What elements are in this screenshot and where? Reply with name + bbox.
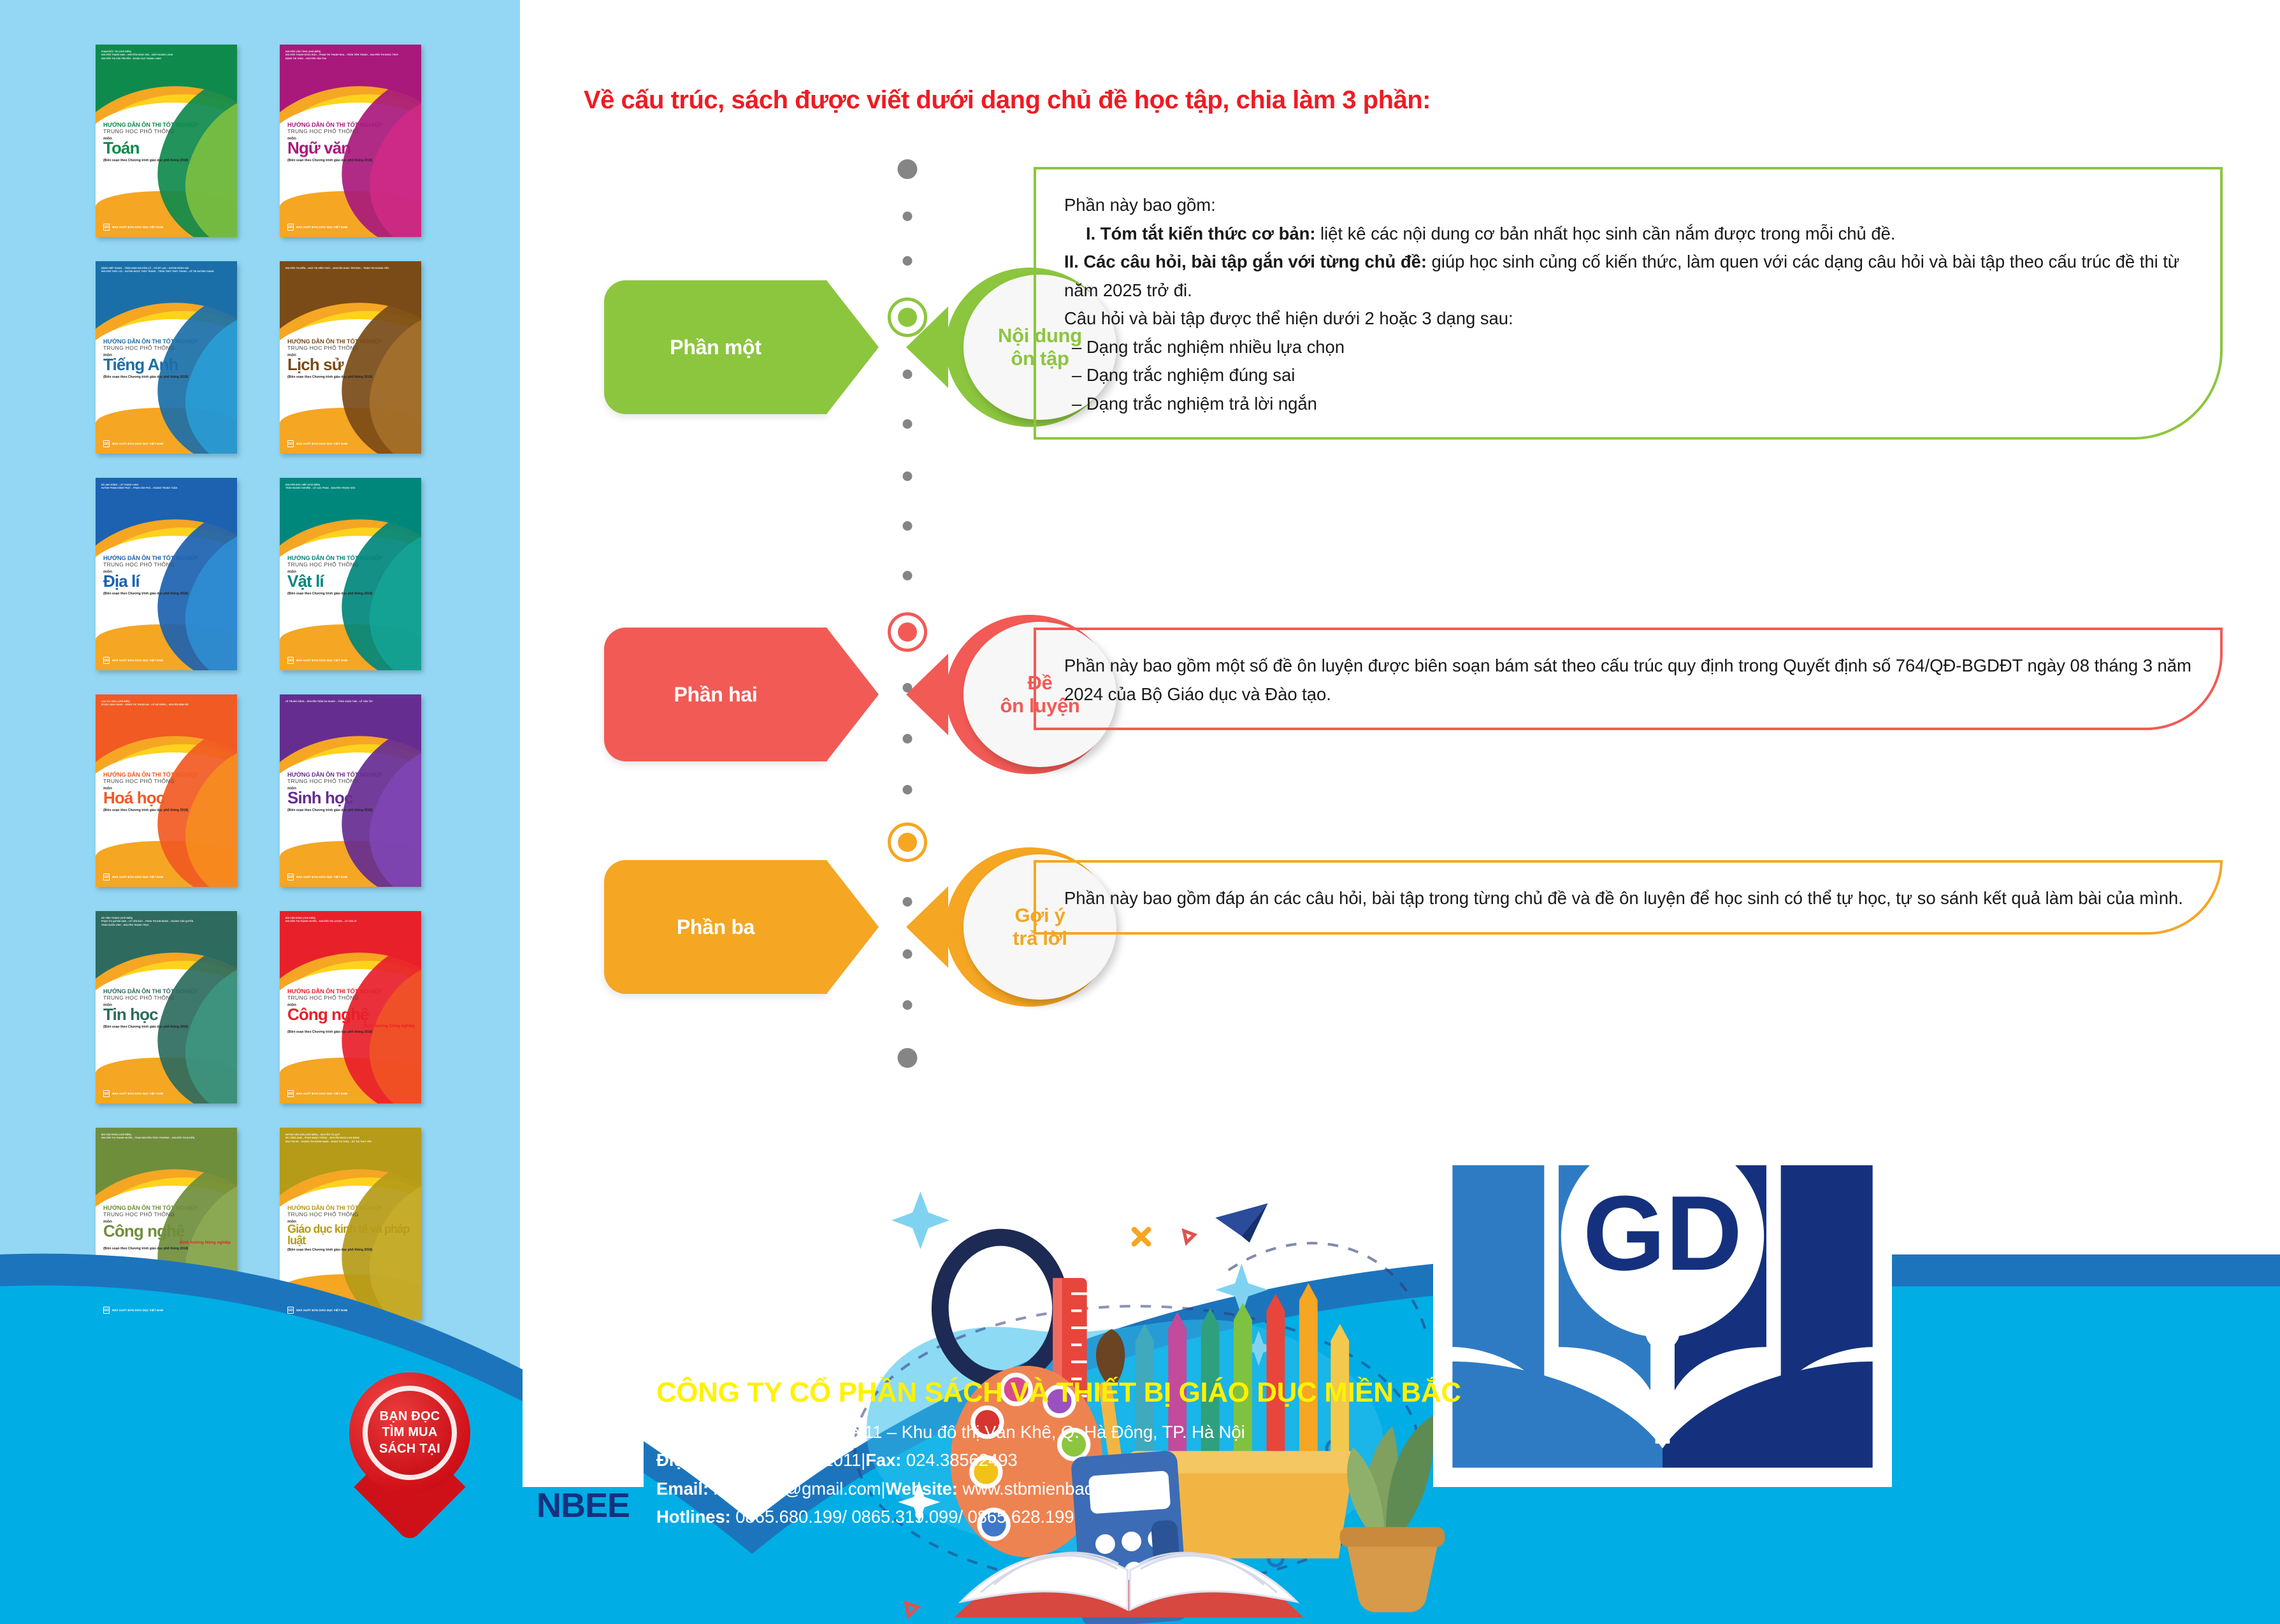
pin-line-3: SÁCH TẠI — [379, 1441, 440, 1458]
book-note: (Biên soạn theo Chương trình giáo dục ph… — [287, 808, 415, 812]
book-subject-title: Sinh học — [287, 790, 415, 806]
panel-1-lead: Câu hỏi và bài tập được thể hiện dưới 2 … — [1064, 305, 2193, 333]
book-title-block: HƯỚNG DẪN ÔN THI TỐT NGHIỆPTRUNG HỌC PHỔ… — [103, 555, 231, 596]
timeline-dot — [903, 256, 913, 266]
publisher-name: NHÀ XUẤT BẢN GIÁO DỤC VIỆT NAM — [112, 1092, 163, 1095]
book-header-line1: HƯỚNG DẪN ÔN THI TỐT NGHIỆP — [103, 772, 231, 779]
book-subject-subtitle: Định hướng Công nghiệp — [287, 1024, 415, 1028]
website-value[interactable]: www.stbmienbac.vn — [958, 1479, 1116, 1498]
publisher-name: NHÀ XUẤT BẢN GIÁO DỤC VIỆT NAM — [296, 442, 347, 445]
book-header-line2: TRUNG HỌC PHỔ THÔNG — [287, 128, 415, 136]
book-subject-title: Lịch sử — [287, 357, 415, 373]
book-note: (Biên soạn theo Chương trình giáo dục ph… — [103, 1247, 231, 1251]
phone-label: Điện thoại: — [656, 1450, 746, 1470]
book-authors: LÊ TRUNG DŨNG – NGUYỄN TRẦN SA GIANG – T… — [285, 700, 415, 703]
book-header-line1: HƯỚNG DẪN ÔN THI TỐT NGHIỆP — [287, 122, 415, 129]
panel-1-bullet: – Dạng trắc nghiệm trả lời ngắn — [1064, 390, 2193, 419]
book-title-block: HƯỚNG DẪN ÔN THI TỐT NGHIỆPTRUNG HỌC PHỔ… — [287, 1205, 415, 1252]
timeline-marker-2 — [888, 612, 927, 652]
step-chip-2[interactable]: Phần hai — [604, 628, 827, 761]
page-title: Về cấu trúc, sách được viết dưới dạng ch… — [584, 86, 1431, 115]
book-authors: ĐẶNG HIỆP GIANG – TRẦN ĐINH NGUYỄN LỮ – … — [101, 267, 231, 274]
hotlines-value: 0865.680.199/ 0865.319.099/ 0865.628.199 — [731, 1507, 1074, 1527]
book-publisher: GDNHÀ XUẤT BẢN GIÁO DỤC VIỆT NAM — [103, 224, 163, 231]
publisher-logo-icon: GD — [287, 440, 294, 447]
publisher-logo-icon: GD — [103, 873, 110, 880]
timeline-dot — [903, 212, 913, 221]
publisher-name: NHÀ XUẤT BẢN GIÁO DỤC VIỆT NAM — [112, 659, 163, 662]
book-authors: ĐỖ ANH DŨNG – LÊ THANH LUNGHUỲNH PHẨM DŨ… — [101, 484, 231, 491]
book-authors: HỒ VĨNH THẮNG (CHỦ BIÊN)PHAN THỊ QUỲNH A… — [101, 917, 231, 927]
timeline-dot — [903, 571, 913, 580]
book-publisher: GDNHÀ XUẤT BẢN GIÁO DỤC VIỆT NAM — [287, 657, 347, 664]
book-publisher: GDNHÀ XUẤT BẢN GIÁO DỤC VIỆT NAM — [287, 1307, 347, 1314]
panel-1-bullet: – Dạng trắc nghiệm đúng sai — [1064, 361, 2193, 390]
publisher-logo-icon: GD — [287, 657, 294, 664]
gd-monogram: GD — [1583, 1174, 1742, 1293]
publisher-name: NHÀ XUẤT BẢN GIÁO DỤC VIỆT NAM — [296, 659, 347, 662]
book-header-line2: TRUNG HỌC PHỔ THÔNG — [287, 995, 415, 1002]
book-cover[interactable]: ĐẶNG HIỆP GIANG – TRẦN ĐINH NGUYỄN LỮ – … — [96, 261, 237, 454]
panel-1-item2: II. Các câu hỏi, bài tập gắn với từng ch… — [1064, 248, 2193, 305]
nbee-wordmark: NBEE — [523, 1486, 644, 1525]
book-subject-title: Vật lí — [287, 573, 415, 589]
panel-2-text: Phần này bao gồm một số đề ôn luyện được… — [1064, 652, 2193, 708]
panel-1-bullet: – Dạng trắc nghiệm nhiều lựa chọn — [1064, 333, 2193, 362]
company-name: CÔNG TY CỔ PHẦN SÁCH VÀ THIẾT BỊ GIÁO DỤ… — [656, 1377, 1461, 1409]
publisher-logo-icon: GD — [287, 1090, 294, 1097]
separator: | — [881, 1479, 885, 1498]
step-chip-3[interactable]: Phần ba — [604, 860, 827, 994]
triangle-mark — [906, 1603, 918, 1616]
nbee-mark: GD — [523, 1366, 644, 1487]
book-cover[interactable]: HỒ VĨNH THẮNG (CHỦ BIÊN)PHAN THỊ QUỲNH A… — [96, 911, 237, 1103]
book-subject-title: Toán — [103, 140, 231, 156]
publisher-name: NHÀ XUẤT BẢN GIÁO DỤC VIỆT NAM — [296, 226, 347, 229]
panel-2: Phần này bao gồm một số đề ôn luyện được… — [1034, 628, 2223, 730]
book-title-block: HƯỚNG DẪN ÔN THI TỐT NGHIỆPTRUNG HỌC PHỔ… — [287, 555, 415, 596]
panel-3: Phần này bao gồm đáp án các câu hỏi, bài… — [1034, 860, 2223, 935]
publisher-logo-icon: GD — [287, 1307, 294, 1314]
step-chip-1-label: Phần một — [670, 336, 761, 359]
book-title-block: HƯỚNG DẪN ÔN THI TỐT NGHIỆPTRUNG HỌC PHỔ… — [103, 122, 231, 162]
book-subject-title: Hoá học — [103, 790, 231, 806]
book-subject-title: Ngữ văn — [287, 140, 415, 156]
book-note: (Biên soạn theo Chương trình giáo dục ph… — [103, 375, 231, 379]
book-header-line1: HƯỚNG DẪN ÔN THI TỐT NGHIỆP — [287, 1205, 415, 1212]
publisher-logo-icon: GD — [287, 224, 294, 231]
timeline-dot — [903, 521, 913, 531]
timeline-endpoint-top — [898, 159, 918, 179]
book-authors: HUỲNH VĂN SƠN (CHỦ BIÊN) – NGUYỄN THỊ QU… — [285, 1133, 415, 1144]
book-header-line1: HƯỚNG DẪN ÔN THI TỐT NGHIỆP — [103, 988, 231, 995]
book-authors: BÙI VĂN HỒNG (CHỦ BIÊN)NGUYỄN THỊ THANH … — [101, 1133, 231, 1140]
panel-1-intro: Phần này bao gồm: — [1064, 191, 2193, 220]
book-authors: CAO CỰ GIÁC (CHỦ BIÊN)ĐOÀN LÀNH GIANG – … — [101, 700, 231, 707]
book-cover[interactable]: NGUYỄN VĂN TÙNG (CHỦ BIÊN)NGUYỄN THANH N… — [280, 45, 421, 237]
pin-text: BẠN ĐỌC TÌM MUA SÁCH TẠI — [363, 1386, 457, 1480]
book-note: (Biên soạn theo Chương trình giáo dục ph… — [103, 1025, 231, 1029]
publisher-logo-icon: GD — [103, 1307, 110, 1314]
book-header-line1: HƯỚNG DẪN ÔN THI TỐT NGHIỆP — [287, 772, 415, 779]
book-note: (Biên soạn theo Chương trình giáo dục ph… — [103, 159, 231, 162]
company-email-web: Email: kd.stbmb@gmail.com|Website: www.s… — [656, 1475, 1461, 1504]
book-title-block: HƯỚNG DẪN ÔN THI TỐT NGHIỆPTRUNG HỌC PHỔ… — [287, 338, 415, 379]
book-publisher: GDNHÀ XUẤT BẢN GIÁO DỤC VIỆT NAM — [103, 1090, 163, 1097]
pin-line-1: BẠN ĐỌC — [380, 1409, 440, 1425]
book-note: (Biên soạn theo Chương trình giáo dục ph… — [287, 159, 415, 162]
fax-label: Fax: — [865, 1450, 901, 1470]
email-value[interactable]: kd.stbmb@gmail.com — [709, 1479, 881, 1498]
book-authors: NGUYỄN THỊ HIỀN – NGÔ THỊ HIỀN THÚY – NG… — [285, 267, 415, 270]
book-header-line2: TRUNG HỌC PHỔ THÔNG — [103, 778, 231, 786]
email-label: Email: — [656, 1479, 709, 1498]
book-header-line2: TRUNG HỌC PHỔ THÔNG — [287, 561, 415, 569]
book-header-line1: HƯỚNG DẪN ÔN THI TỐT NGHIỆP — [103, 338, 231, 345]
book-header-line1: HƯỚNG DẪN ÔN THI TỐT NGHIỆP — [287, 338, 415, 345]
publisher-name: NHÀ XUẤT BẢN GIÁO DỤC VIỆT NAM — [112, 875, 163, 879]
book-note: (Biên soạn theo Chương trình giáo dục ph… — [103, 808, 231, 812]
publisher-name: NHÀ XUẤT BẢN GIÁO DỤC VIỆT NAM — [112, 442, 163, 445]
hotlines-label: Hotlines: — [656, 1507, 731, 1527]
timeline — [893, 153, 922, 1147]
book-publisher: GDNHÀ XUẤT BẢN GIÁO DỤC VIỆT NAM — [287, 224, 347, 231]
book-note: (Biên soạn theo Chương trình giáo dục ph… — [287, 375, 415, 379]
book-header-line2: TRUNG HỌC PHỔ THÔNG — [287, 345, 415, 352]
book-subject-title: Địa lí — [103, 573, 231, 589]
book-header-line2: TRUNG HỌC PHỔ THÔNG — [103, 995, 231, 1002]
publisher-name: NHÀ XUẤT BẢN GIÁO DỤC VIỆT NAM — [296, 875, 347, 879]
book-title-block: HƯỚNG DẪN ÔN THI TỐT NGHIỆPTRUNG HỌC PHỔ… — [287, 988, 415, 1034]
book-publisher: GDNHÀ XUẤT BẢN GIÁO DỤC VIỆT NAM — [287, 873, 347, 880]
book-header-line2: TRUNG HỌC PHỔ THÔNG — [103, 128, 231, 136]
book-header-line1: HƯỚNG DẪN ÔN THI TỐT NGHIỆP — [103, 122, 231, 129]
book-subject-title: Giáo dục kinh tế và pháp luật — [287, 1223, 415, 1246]
publisher-name: NHÀ XUẤT BẢN GIÁO DỤC VIỆT NAM — [112, 226, 163, 229]
book-title-block: HƯỚNG DẪN ÔN THI TỐT NGHIỆPTRUNG HỌC PHỔ… — [287, 772, 415, 812]
book-header-line1: HƯỚNG DẪN ÔN THI TỐT NGHIỆP — [287, 988, 415, 995]
book-subject-title: Công nghệ — [287, 1007, 415, 1023]
address-value: Số 24, 25 Liền kề 11 – Khu đô thị Văn Kh… — [719, 1422, 1245, 1442]
book-title-block: HƯỚNG DẪN ÔN THI TỐT NGHIỆPTRUNG HỌC PHỔ… — [103, 1205, 231, 1251]
step-chip-3-label: Phần ba — [677, 916, 754, 939]
company-phone-fax: Điện thoại: 024.38562011|Fax: 024.385624… — [656, 1446, 1461, 1475]
book-cover[interactable]: NGUYỄN ĐỨC HIỆP (CHỦ BIÊN)TRẦN HOÀNG NGH… — [280, 478, 421, 670]
publisher-name: NHÀ XUẤT BẢN GIÁO DỤC VIỆT NAM — [296, 1092, 347, 1095]
book-subject-title: Tin học — [103, 1007, 231, 1023]
panel-1: Phần này bao gồm: I. Tóm tắt kiến thức c… — [1034, 167, 2223, 440]
company-info: CÔNG TY CỔ PHẦN SÁCH VÀ THIẾT BỊ GIÁO DỤ… — [656, 1377, 1461, 1532]
timeline-dot — [903, 734, 913, 744]
pin-line-2: TÌM MUA — [382, 1425, 438, 1441]
book-authors: NGUYỄN VĂN TÙNG (CHỦ BIÊN)NGUYỄN THANH N… — [285, 50, 415, 61]
book-publisher: GDNHÀ XUẤT BẢN GIÁO DỤC VIỆT NAM — [103, 873, 163, 880]
book-publisher: GDNHÀ XUẤT BẢN GIÁO DỤC VIỆT NAM — [103, 657, 163, 664]
timeline-dot — [903, 419, 913, 429]
phone-value: 024.38562011 — [746, 1450, 861, 1470]
address-label: Địa chỉ: — [656, 1422, 719, 1442]
timeline-marker-3 — [888, 823, 927, 862]
books-grid: PHẠM ĐỨC TÀI (CHỦ BIÊN)NGUYỄN THÀNH ANH … — [0, 45, 520, 1320]
map-pin-badge: BẠN ĐỌC TÌM MUA SÁCH TẠI — [349, 1372, 470, 1525]
fax-value: 024.38562493 — [901, 1450, 1017, 1470]
panel-3-text: Phần này bao gồm đáp án các câu hỏi, bài… — [1064, 884, 2193, 913]
publisher-logo-icon: GD — [103, 440, 110, 447]
book-note: (Biên soạn theo Chương trình giáo dục ph… — [287, 1030, 415, 1034]
book-title-block: HƯỚNG DẪN ÔN THI TỐT NGHIỆPTRUNG HỌC PHỔ… — [103, 772, 231, 812]
book-cover[interactable]: ĐỖ ANH DŨNG – LÊ THANH LUNGHUỲNH PHẨM DŨ… — [96, 478, 237, 670]
book-note: (Biên soạn theo Chương trình giáo dục ph… — [287, 592, 415, 596]
book-header-line2: TRUNG HỌC PHỔ THÔNG — [287, 1211, 415, 1219]
book-header-line1: HƯỚNG DẪN ÔN THI TỐT NGHIỆP — [287, 555, 415, 562]
publisher-name: NHÀ XUẤT BẢN GIÁO DỤC VIỆT NAM — [112, 1309, 163, 1312]
book-header-line1: HƯỚNG DẪN ÔN THI TỐT NGHIỆP — [103, 555, 231, 562]
publisher-logo-icon: GD — [103, 1090, 110, 1097]
book-subject-title: Công nghệ — [103, 1223, 231, 1239]
book-cover[interactable]: BÙI VĂN HỒNG (CHỦ BIÊN)NGUYỄN THỊ THANH … — [280, 911, 421, 1103]
book-cover[interactable]: LÊ TRUNG DŨNG – NGUYỄN TRẦN SA GIANG – T… — [280, 694, 421, 887]
book-publisher: GDNHÀ XUẤT BẢN GIÁO DỤC VIỆT NAM — [103, 440, 163, 447]
company-hotlines: Hotlines: 0865.680.199/ 0865.319.099/ 08… — [656, 1503, 1461, 1532]
panel-1-item1-bold: I. Tóm tắt kiến thức cơ bản: — [1086, 224, 1315, 243]
book-note: (Biên soạn theo Chương trình giáo dục ph… — [103, 592, 231, 596]
step-chip-2-label: Phần hai — [674, 683, 758, 707]
website-label: Website: — [886, 1479, 958, 1498]
book-title-block: HƯỚNG DẪN ÔN THI TỐT NGHIỆPTRUNG HỌC PHỔ… — [287, 122, 415, 162]
panel-1-item1-rest: liệt kê các nội dung cơ bản nhất học sin… — [1315, 224, 1895, 243]
publisher-name: NHÀ XUẤT BẢN GIÁO DỤC VIỆT NAM — [296, 1309, 347, 1312]
book-authors: BÙI VĂN HỒNG (CHỦ BIÊN)NGUYỄN THỊ THANH … — [285, 917, 415, 924]
book-title-block: HƯỚNG DẪN ÔN THI TỐT NGHIỆPTRUNG HỌC PHỔ… — [103, 988, 231, 1029]
timeline-endpoint-bottom — [898, 1048, 918, 1068]
publisher-logo-icon: GD — [103, 657, 110, 664]
nbee-logo: GD NBEE — [523, 1366, 644, 1535]
book-title-block: HƯỚNG DẪN ÔN THI TỐT NGHIỆPTRUNG HỌC PHỔ… — [103, 338, 231, 379]
book-authors: PHẠM ĐỨC TÀI (CHỦ BIÊN)NGUYỄN THÀNH ANH … — [101, 50, 231, 61]
book-subject-subtitle: Định hướng Nông nghiệp — [103, 1240, 231, 1245]
step-chip-1[interactable]: Phần một — [604, 280, 827, 414]
publisher-logo-icon: GD — [103, 224, 110, 231]
timeline-dot — [903, 471, 913, 481]
book-cover[interactable]: NGUYỄN THỊ HIỀN – NGÔ THỊ HIỀN THÚY – NG… — [280, 261, 421, 454]
book-header-line1: HƯỚNG DẪN ÔN THI TỐT NGHIỆP — [103, 1205, 231, 1212]
book-header-line2: TRUNG HỌC PHỔ THÔNG — [103, 345, 231, 352]
book-header-line2: TRUNG HỌC PHỔ THÔNG — [103, 561, 231, 569]
book-publisher: GDNHÀ XUẤT BẢN GIÁO DỤC VIỆT NAM — [287, 1090, 347, 1097]
publisher-logo-icon: GD — [287, 873, 294, 880]
book-subject-title: Tiếng Anh — [103, 357, 231, 373]
book-cover[interactable]: PHẠM ĐỨC TÀI (CHỦ BIÊN)NGUYỄN THÀNH ANH … — [96, 45, 237, 237]
book-header-line2: TRUNG HỌC PHỔ THÔNG — [287, 778, 415, 786]
panel-1-item2-bold: II. Các câu hỏi, bài tập gắn với từng ch… — [1064, 252, 1427, 271]
book-cover[interactable]: CAO CỰ GIÁC (CHỦ BIÊN)ĐOÀN LÀNH GIANG – … — [96, 694, 237, 887]
book-note: (Biên soạn theo Chương trình giáo dục ph… — [287, 1248, 415, 1252]
timeline-dot — [903, 785, 913, 794]
company-address: Địa chỉ: Số 24, 25 Liền kề 11 – Khu đô t… — [656, 1418, 1461, 1447]
panel-1-item1: I. Tóm tắt kiến thức cơ bản: liệt kê các… — [1064, 220, 2193, 248]
book-publisher: GDNHÀ XUẤT BẢN GIÁO DỤC VIỆT NAM — [287, 440, 347, 447]
book-header-line2: TRUNG HỌC PHỔ THÔNG — [103, 1211, 231, 1219]
book-authors: NGUYỄN ĐỨC HIỆP (CHỦ BIÊN)TRẦN HOÀNG NGH… — [285, 484, 415, 491]
timeline-dot — [903, 1000, 913, 1010]
book-publisher: GDNHÀ XUẤT BẢN GIÁO DỤC VIỆT NAM — [103, 1307, 163, 1314]
